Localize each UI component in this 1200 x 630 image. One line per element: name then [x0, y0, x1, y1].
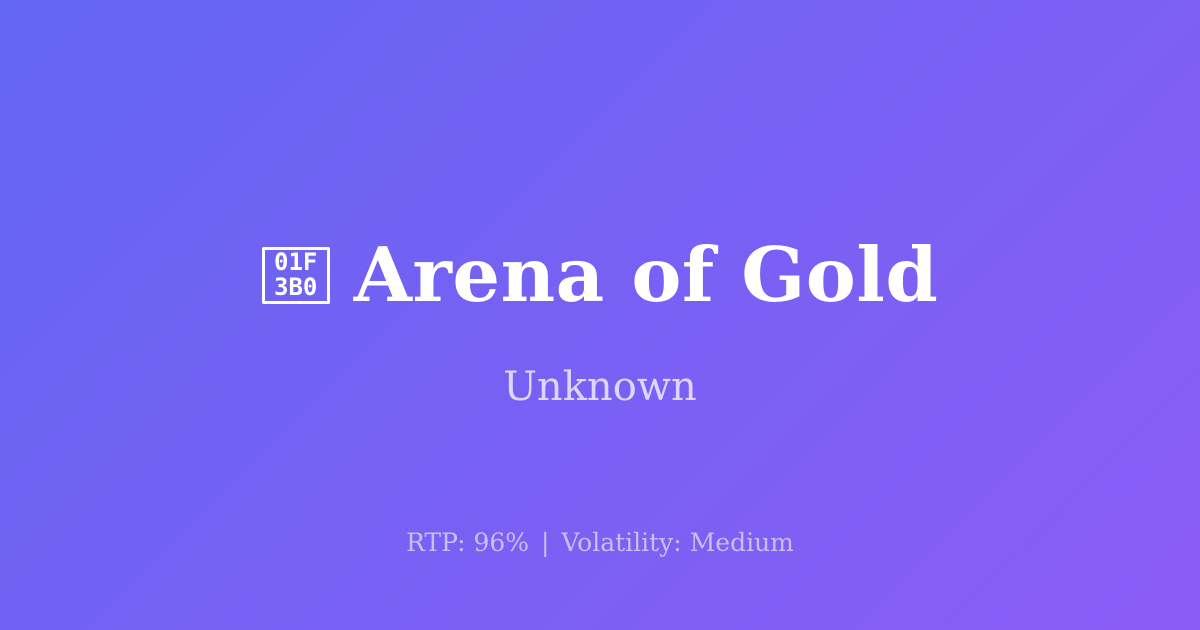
rtp-value: 96% — [473, 528, 529, 557]
stats-separator: | — [537, 528, 553, 557]
tofu-codepoint-bottom: 3B0 — [274, 275, 317, 300]
game-stats-line: RTP: 96% | Volatility: Medium — [0, 527, 1200, 559]
rtp-label: RTP: — [406, 528, 465, 557]
game-provider-label: Unknown — [0, 360, 1200, 414]
game-share-card: 01F 3B0 Arena of Gold Unknown RTP: 96% |… — [0, 0, 1200, 630]
game-title-row: 01F 3B0 Arena of Gold — [0, 232, 1200, 318]
volatility-label: Volatility: — [561, 528, 681, 557]
slot-machine-icon: 01F 3B0 — [262, 247, 330, 304]
game-title: Arena of Gold — [354, 232, 939, 318]
volatility-value: Medium — [690, 528, 794, 557]
tofu-codepoint-top: 01F — [274, 250, 317, 275]
